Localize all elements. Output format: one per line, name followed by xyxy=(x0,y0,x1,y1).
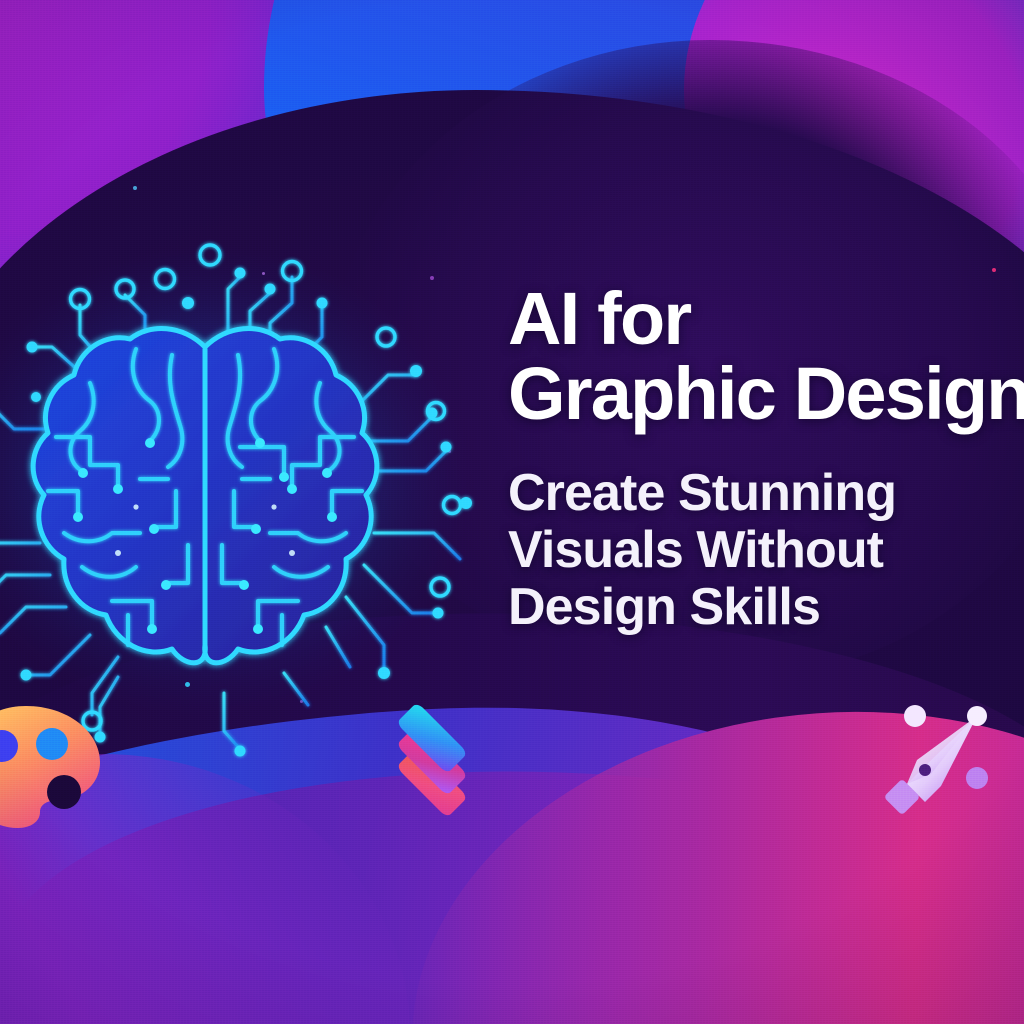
sparkle-dot xyxy=(133,186,137,190)
anchor-point-corner xyxy=(967,706,987,726)
pen-nib-hole xyxy=(919,764,931,776)
palette-thumb-hole xyxy=(47,775,81,809)
subhead-line-3: Design Skills xyxy=(508,579,1024,636)
subhead-line-2: Visuals Without xyxy=(508,522,1024,579)
sparkle-dot xyxy=(992,268,996,272)
palette-body xyxy=(0,706,100,828)
copy-block: AI for Graphic Design Create Stunning Vi… xyxy=(508,282,1024,636)
layers-icon xyxy=(382,698,482,820)
page-subtitle: Create Stunning Visuals Without Design S… xyxy=(508,465,1024,637)
page-title: AI for Graphic Design xyxy=(508,282,1024,431)
promo-banner: AI for Graphic Design Create Stunning Vi… xyxy=(0,0,1024,1024)
palette-icon xyxy=(0,700,114,832)
headline-line-2: Graphic Design xyxy=(508,357,1024,430)
anchor-point-bottom xyxy=(966,767,988,789)
anchor-point-left xyxy=(904,705,926,727)
pen-tool-icon xyxy=(893,698,1005,816)
headline-line-1: AI for xyxy=(508,282,1024,355)
ai-circuit-brain-illustration xyxy=(0,215,480,725)
paint-dot-cyan xyxy=(36,728,68,760)
subhead-line-1: Create Stunning xyxy=(508,465,1024,522)
